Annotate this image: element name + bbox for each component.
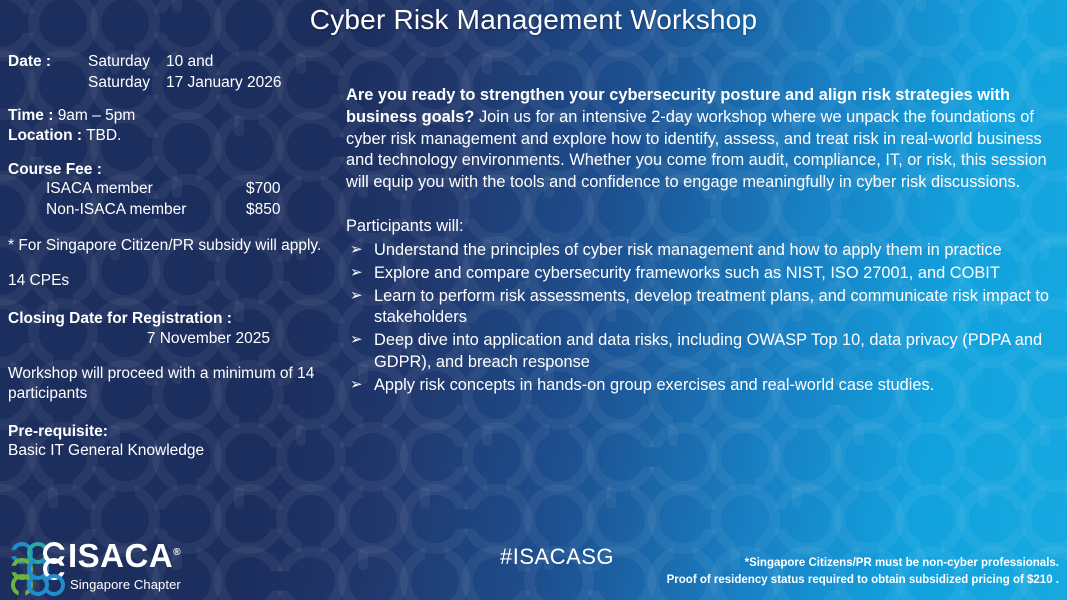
- list-item-text: Deep dive into application and data risk…: [374, 331, 1042, 371]
- logo-arc-icon: [42, 557, 58, 573]
- outcomes-list: ➢ Understand the principles of cyber ris…: [346, 240, 1061, 397]
- list-item-text: Learn to perform risk assessments, devel…: [374, 287, 1049, 327]
- footnote-line-2: Proof of residency status required to ob…: [667, 572, 1059, 588]
- logo-arc-icon: [26, 573, 42, 589]
- subsidy-note: * For Singapore Citizen/PR subsidy will …: [8, 236, 338, 256]
- logo-arc-icon: [10, 541, 26, 557]
- list-item-text: Apply risk concepts in hands-on group ex…: [374, 376, 934, 394]
- list-item: ➢ Apply risk concepts in hands-on group …: [346, 375, 1061, 397]
- date-1-value: 17 January 2026: [166, 73, 338, 93]
- location-label: Location :: [8, 127, 82, 144]
- fee-0-price: $700: [246, 179, 338, 199]
- location-line: Location : TBD.: [8, 126, 338, 146]
- description-column: Are you ready to strengthen your cyberse…: [346, 85, 1061, 398]
- course-fee-block: Course Fee : ISACA member $700 Non-ISACA…: [8, 160, 338, 220]
- fee-table: ISACA member $700 Non-ISACA member $850: [46, 179, 338, 219]
- time-value: 9am – 5pm: [58, 107, 136, 124]
- arrow-bullet-icon: ➢: [350, 375, 363, 395]
- fee-1-price: $850: [246, 200, 338, 220]
- date-0-day: Saturday: [88, 52, 166, 72]
- logo-arc-icon: [10, 557, 26, 573]
- cpe-credits: 14 CPEs: [8, 271, 338, 291]
- list-item: ➢ Understand the principles of cyber ris…: [346, 240, 1061, 262]
- list-item-text: Explore and compare cybersecurity framew…: [374, 264, 1000, 282]
- isaca-wordmark: ISACA®: [68, 539, 181, 572]
- registered-trademark-icon: ®: [173, 547, 181, 558]
- footnote: *Singapore Citizens/PR must be non-cyber…: [667, 555, 1059, 588]
- isaca-logo-mark-icon: [10, 541, 58, 589]
- page-title: Cyber Risk Management Workshop: [0, 4, 1067, 36]
- participants-heading: Participants will:: [346, 216, 1061, 238]
- workshop-poster: Cyber Risk Management Workshop Date : Sa…: [0, 0, 1067, 600]
- closing-date-label: Closing Date for Registration :: [8, 309, 338, 329]
- event-details-column: Date : Saturday 10 and Saturday 17 Janua…: [8, 52, 338, 461]
- course-fee-label: Course Fee :: [8, 160, 338, 180]
- footnote-line-1: *Singapore Citizens/PR must be non-cyber…: [667, 555, 1059, 571]
- minimum-participants-note: Workshop will proceed with a minimum of …: [8, 364, 338, 403]
- isaca-logo-text: ISACA® Singapore Chapter: [68, 539, 181, 592]
- time-line: Time : 9am – 5pm: [8, 106, 338, 126]
- date-1-day: Saturday: [88, 73, 166, 93]
- isaca-wordmark-text: ISACA: [68, 537, 173, 574]
- closing-date-value: 7 November 2025: [8, 329, 338, 349]
- list-item: ➢ Deep dive into application and data ri…: [346, 330, 1061, 374]
- arrow-bullet-icon: ➢: [350, 240, 363, 260]
- arrow-bullet-icon: ➢: [350, 263, 363, 283]
- prerequisite-label: Pre-requisite:: [8, 422, 338, 442]
- logo-arc-icon: [42, 541, 58, 557]
- logo-arc-icon: [10, 573, 26, 589]
- isaca-logo: ISACA® Singapore Chapter: [10, 539, 181, 592]
- intro-paragraph: Are you ready to strengthen your cyberse…: [346, 85, 1061, 194]
- date-block: Date : Saturday 10 and Saturday 17 Janua…: [8, 52, 338, 92]
- isaca-chapter-name: Singapore Chapter: [70, 577, 181, 592]
- prerequisite-value: Basic IT General Knowledge: [8, 441, 338, 461]
- time-label: Time :: [8, 107, 53, 124]
- location-value: TBD.: [86, 127, 121, 144]
- logo-arc-icon: [26, 557, 42, 573]
- time-location-block: Time : 9am – 5pm Location : TBD.: [8, 106, 338, 145]
- list-item: ➢ Explore and compare cybersecurity fram…: [346, 263, 1061, 285]
- list-item: ➢ Learn to perform risk assessments, dev…: [346, 286, 1061, 330]
- list-item-text: Understand the principles of cyber risk …: [374, 241, 1002, 259]
- hashtag: #ISACASG: [500, 544, 614, 570]
- logo-arc-icon: [42, 573, 58, 589]
- fee-0-type: ISACA member: [46, 179, 246, 199]
- fee-1-type: Non-ISACA member: [46, 200, 246, 220]
- date-label: Date :: [8, 52, 88, 72]
- date-0-value: 10 and: [166, 52, 338, 72]
- arrow-bullet-icon: ➢: [350, 286, 363, 306]
- logo-arc-icon: [26, 541, 42, 557]
- arrow-bullet-icon: ➢: [350, 330, 363, 350]
